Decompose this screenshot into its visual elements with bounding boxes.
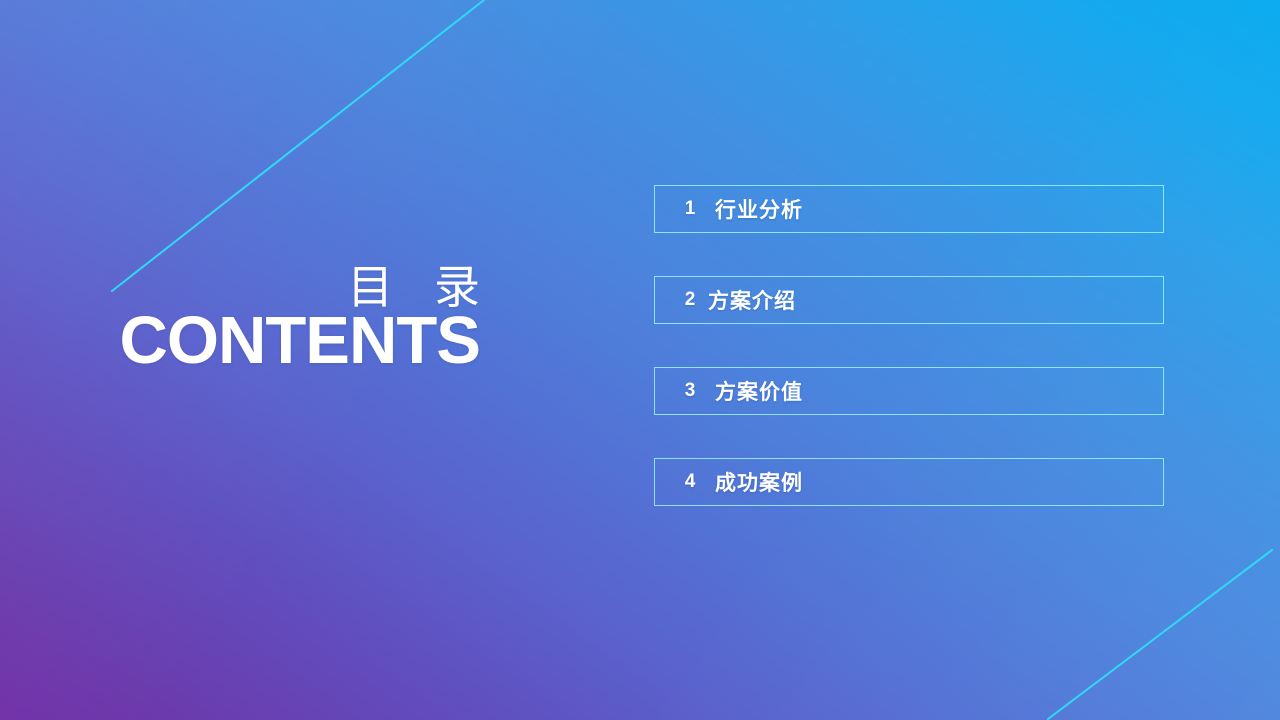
toc-item-3[interactable]: 3 方案价值: [654, 367, 1164, 415]
toc-item-number: 1: [683, 198, 697, 220]
toc-item-label: 成功案例: [715, 467, 803, 497]
toc-item-number: 4: [683, 471, 697, 493]
toc-item-label: 行业分析: [715, 194, 803, 224]
slide-title-block: 目 录 CONTENTS: [60, 262, 480, 376]
toc-item-number: 3: [683, 380, 697, 402]
toc-item-2[interactable]: 2 方案介绍: [654, 276, 1164, 324]
toc-item-4[interactable]: 4 成功案例: [654, 458, 1164, 506]
table-of-contents: 1 行业分析 2 方案介绍 3 方案价值 4 成功案例: [654, 185, 1164, 506]
diagonal-line-top-left-icon: [112, 0, 484, 291]
toc-item-label: 方案介绍: [708, 285, 796, 315]
presentation-slide: 目 录 CONTENTS 1 行业分析 2 方案介绍 3 方案价值 4 成功案例: [0, 0, 1280, 720]
diagonal-line-bottom-right-icon: [1048, 550, 1272, 719]
toc-item-label: 方案价值: [715, 376, 803, 406]
page-title-english: CONTENTS: [60, 306, 480, 376]
toc-item-1[interactable]: 1 行业分析: [654, 185, 1164, 233]
toc-item-number: 2: [683, 289, 697, 311]
